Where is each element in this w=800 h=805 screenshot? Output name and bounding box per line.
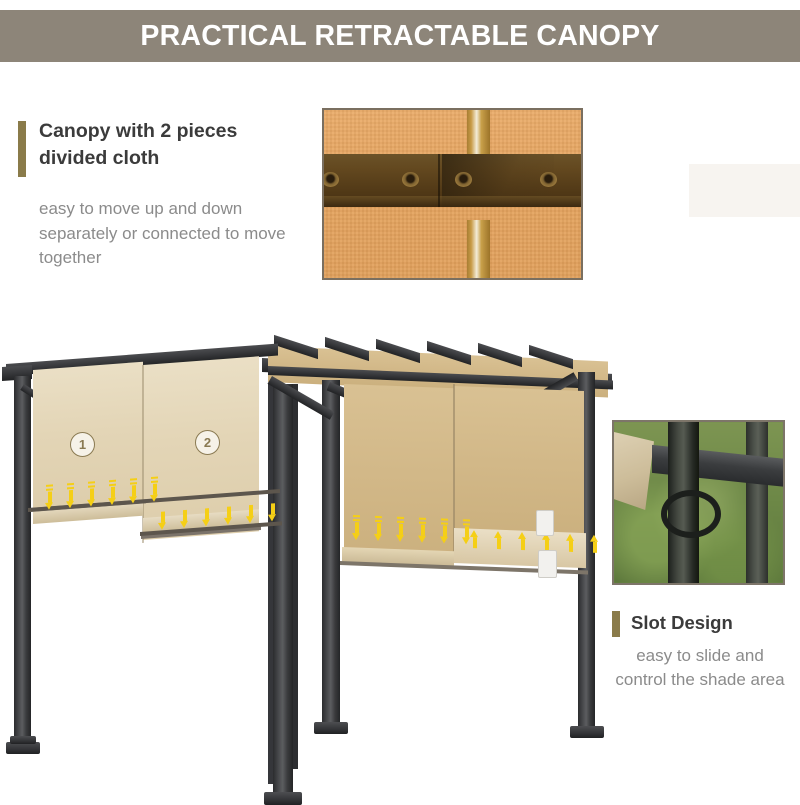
background-post	[746, 422, 768, 585]
slot-heading: Slot Design	[631, 611, 733, 635]
canopy-clip	[536, 510, 554, 536]
rail-bolt-icon	[322, 172, 339, 187]
beam-bolt-icon	[724, 474, 738, 487]
rail-pole-upper	[467, 110, 490, 156]
panel-badge-2: 2	[195, 430, 220, 455]
inset-photo-slot-ring	[612, 420, 785, 585]
canopy-description: easy to move up and down separately or c…	[39, 197, 309, 271]
post-foot	[314, 722, 348, 734]
inset-photo-canopy-rail	[322, 108, 583, 280]
rail-cloth-seam	[438, 154, 440, 207]
rail-bolt-icon	[455, 172, 472, 187]
center-inner-rail	[293, 384, 298, 769]
rail-pole-lower	[467, 220, 490, 280]
rail-bolt-icon	[402, 172, 419, 187]
canopy-right-panel-b	[454, 386, 584, 541]
feature-block-canopy: Canopy with 2 pieces divided cloth easy …	[18, 118, 318, 271]
page-title: PRACTICAL RETRACTABLE CANOPY	[140, 20, 659, 53]
product-photo-pergola: 1 2	[0, 322, 620, 742]
slot-description: easy to slide and control the shade area	[612, 644, 788, 692]
post-center-rear	[322, 380, 340, 728]
panel-badge-1: 1	[70, 432, 95, 457]
center-inner-rail	[268, 384, 273, 784]
slot-heading-row: Slot Design	[612, 608, 788, 637]
post-foot	[264, 792, 302, 805]
rail-bolt-icon	[540, 172, 557, 187]
header-banner: PRACTICAL RETRACTABLE CANOPY	[0, 10, 800, 62]
rail-beam-lip	[322, 196, 583, 207]
canopy-clip	[538, 550, 557, 578]
post-foot-base	[10, 736, 36, 744]
canopy-panel-seam	[142, 365, 144, 543]
canopy-heading: Canopy with 2 pieces divided cloth	[39, 118, 289, 172]
canopy-heading-row: Canopy with 2 pieces divided cloth	[18, 118, 318, 177]
post-foot	[570, 726, 604, 738]
accent-bar-icon	[612, 611, 620, 637]
slot-ring-icon	[661, 490, 721, 538]
post-front-left	[14, 376, 31, 748]
feature-block-slot: Slot Design easy to slide and control th…	[612, 608, 788, 692]
post-center-front	[273, 384, 293, 799]
decorative-cream-panel	[689, 164, 800, 217]
accent-bar-icon	[18, 121, 26, 177]
